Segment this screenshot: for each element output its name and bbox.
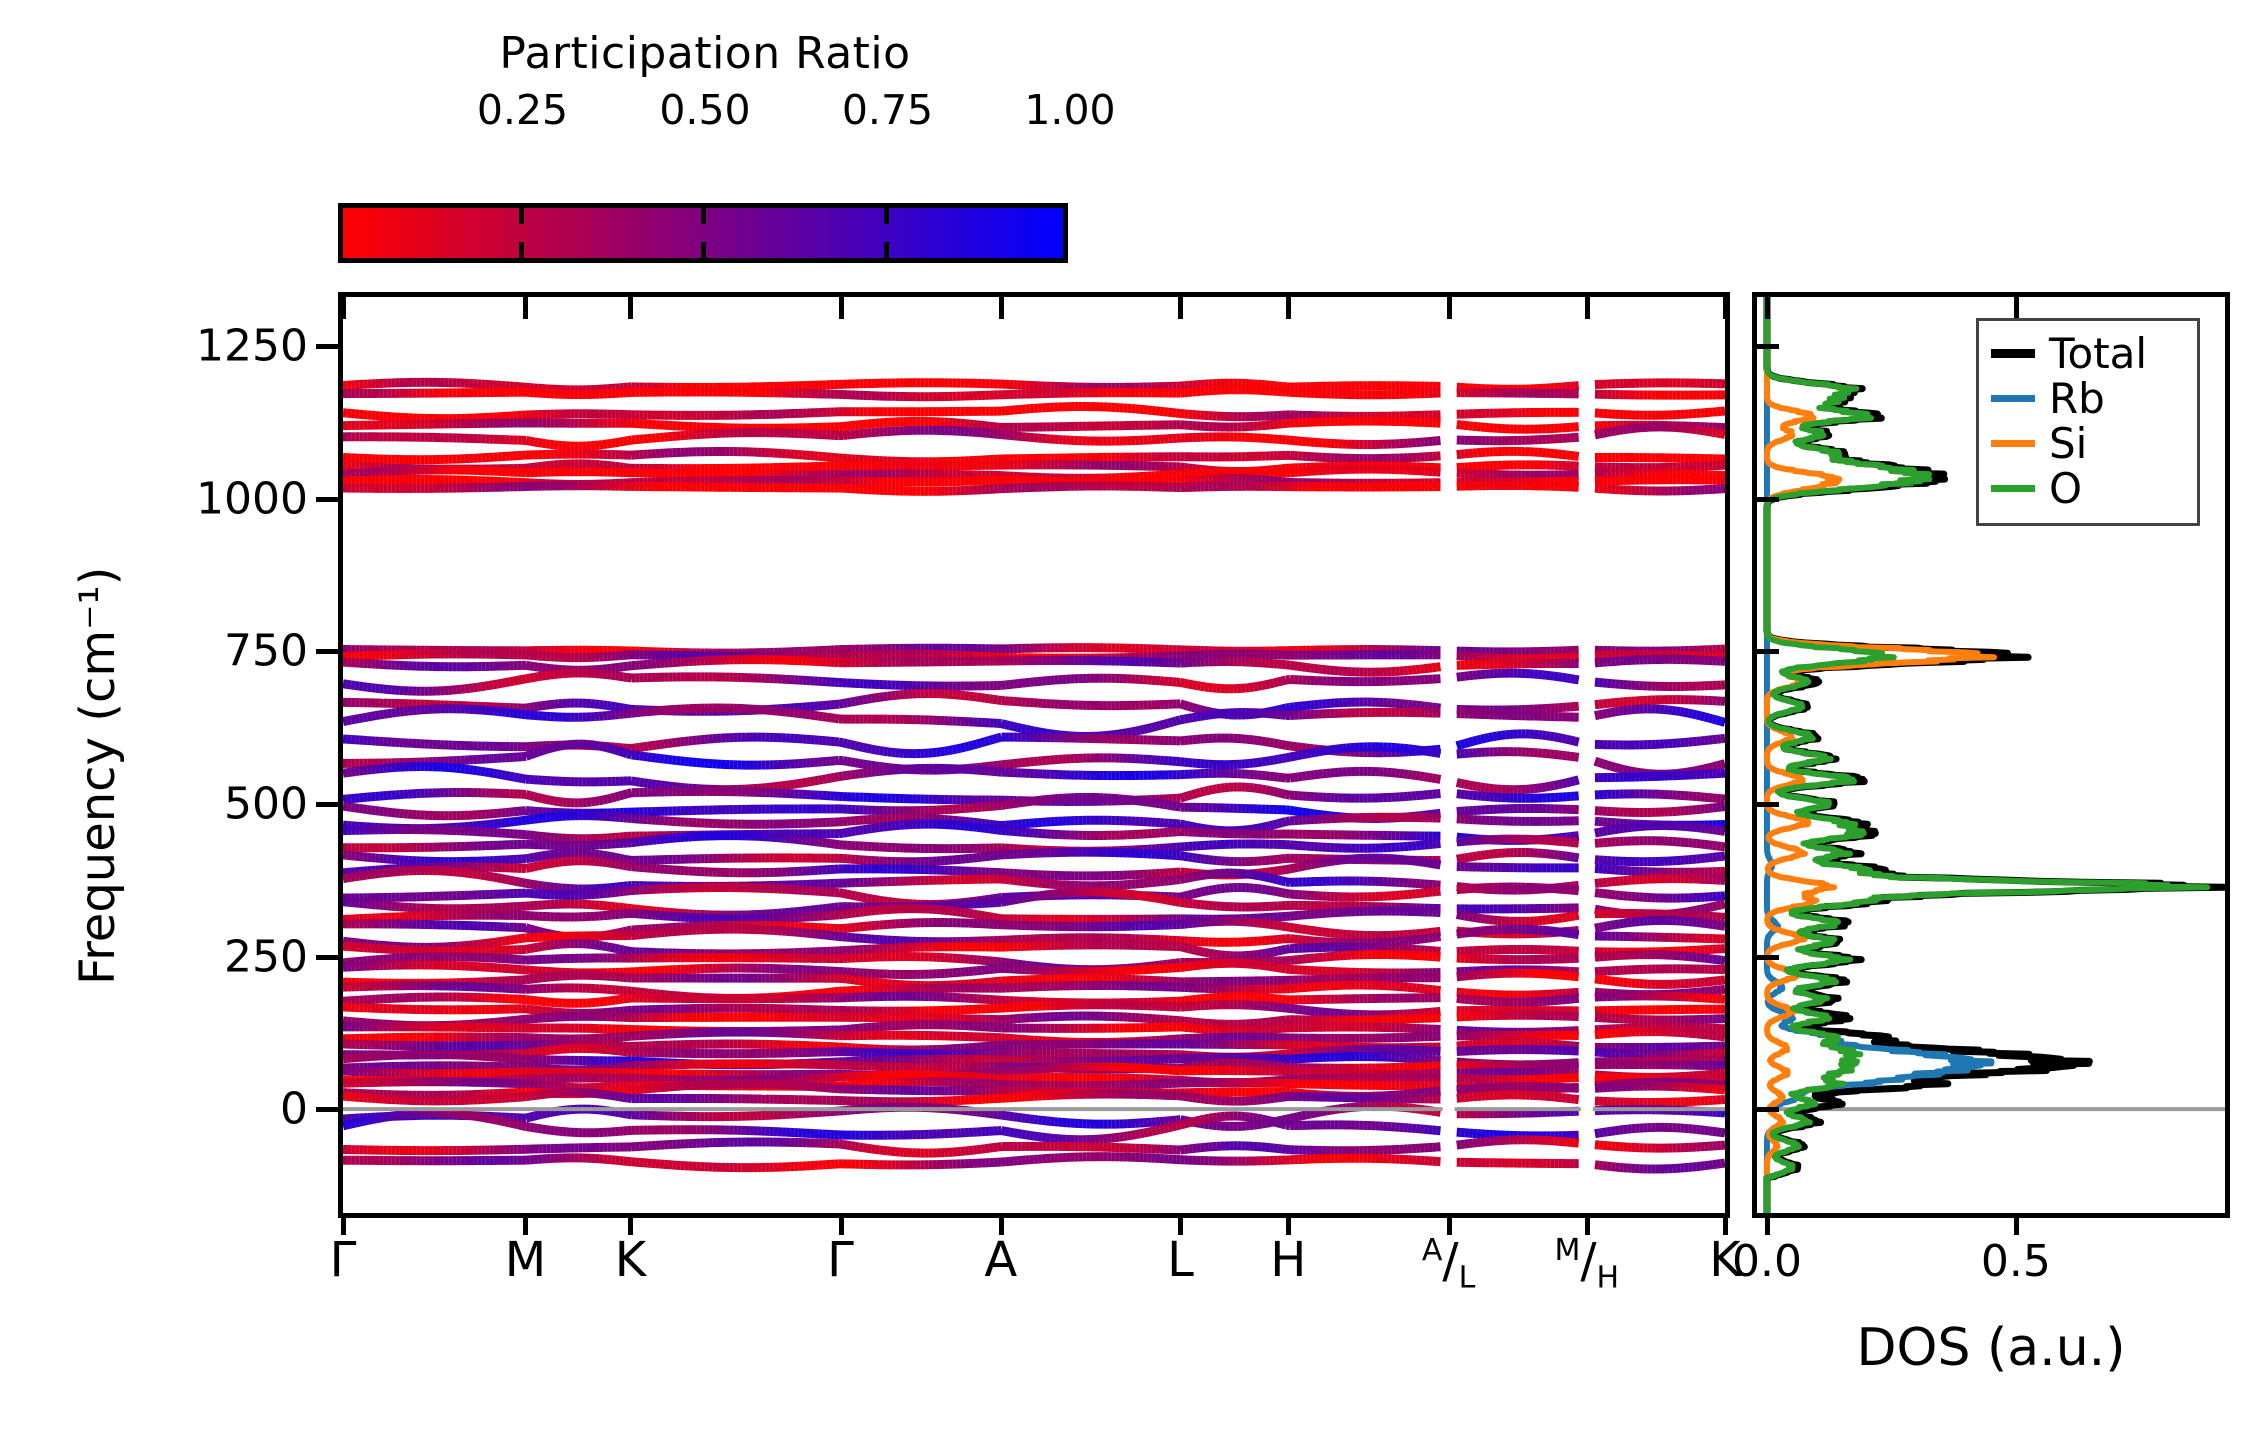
band-segment bbox=[1294, 666, 1298, 667]
band-segment bbox=[989, 699, 993, 700]
colorbar-tick-mark bbox=[701, 242, 706, 258]
band-segment bbox=[607, 443, 611, 444]
band-segment bbox=[1705, 431, 1709, 432]
band-segment bbox=[1298, 666, 1302, 667]
band-segment bbox=[1571, 679, 1575, 680]
band-segment bbox=[1562, 677, 1566, 678]
band-segment bbox=[506, 682, 510, 683]
band-segment bbox=[1599, 433, 1603, 434]
band-segment bbox=[619, 667, 623, 668]
band-segment bbox=[522, 679, 526, 680]
band-segment bbox=[1558, 677, 1562, 678]
band-segment bbox=[1619, 430, 1623, 431]
band-segment bbox=[1193, 707, 1197, 708]
band-segment bbox=[615, 442, 619, 443]
band-segment bbox=[1692, 429, 1696, 430]
band-segment bbox=[1302, 667, 1306, 668]
band-segment bbox=[1428, 668, 1432, 669]
band-segment bbox=[1290, 665, 1294, 666]
band-segment bbox=[615, 667, 619, 668]
band-structure-plot bbox=[343, 297, 1725, 1213]
band-segment bbox=[1627, 429, 1631, 430]
band-segment bbox=[347, 720, 351, 721]
band-segment bbox=[1611, 431, 1615, 432]
band-segment bbox=[530, 467, 534, 468]
band-segment bbox=[526, 665, 530, 666]
band-segment bbox=[1180, 682, 1184, 683]
band-segment bbox=[1721, 434, 1725, 435]
band-segment bbox=[985, 698, 989, 699]
band-segment bbox=[1701, 430, 1705, 431]
band-segment bbox=[851, 701, 855, 702]
band-segment bbox=[1180, 704, 1184, 705]
colorbar-tick-label: 0.50 bbox=[659, 86, 750, 134]
band-segment bbox=[534, 467, 538, 468]
band-segment bbox=[351, 685, 355, 686]
band-segment bbox=[343, 684, 347, 685]
band-segment bbox=[534, 667, 538, 668]
band-segment bbox=[1550, 676, 1554, 677]
colorbar-tick-mark bbox=[519, 242, 524, 258]
band-segment bbox=[526, 440, 530, 441]
band-segment bbox=[538, 443, 542, 444]
band-segment bbox=[1595, 434, 1599, 435]
band-segment bbox=[1180, 467, 1184, 468]
band-segment bbox=[538, 706, 542, 707]
band-segment bbox=[1713, 432, 1717, 433]
band-segment bbox=[607, 705, 611, 706]
band-segment bbox=[603, 444, 607, 445]
band-segment bbox=[502, 683, 506, 684]
colorbar-title: Participation Ratio bbox=[340, 28, 1070, 79]
band-segment bbox=[530, 677, 534, 678]
band-segment bbox=[993, 699, 997, 700]
band-segment bbox=[1575, 679, 1579, 680]
colorbar-tick-label: 1.00 bbox=[1024, 86, 1115, 134]
band-segment bbox=[526, 678, 530, 679]
band-segment bbox=[530, 666, 534, 667]
band-segment bbox=[1615, 430, 1619, 431]
band-segment bbox=[1709, 432, 1713, 433]
band-segment bbox=[1717, 433, 1721, 434]
band-segment bbox=[847, 702, 851, 703]
band-segment bbox=[863, 699, 867, 700]
band-segment bbox=[1571, 455, 1575, 456]
band-segment bbox=[355, 686, 359, 687]
band-segment bbox=[546, 675, 550, 676]
band-segment bbox=[481, 686, 485, 687]
band-segment bbox=[1258, 686, 1262, 687]
colorbar-tick-mark bbox=[701, 208, 706, 224]
colorbar-tick-mark bbox=[884, 208, 889, 224]
band-segment bbox=[469, 688, 473, 689]
band-segment bbox=[1432, 667, 1436, 668]
band-segment bbox=[538, 667, 542, 668]
band-segment bbox=[1457, 677, 1461, 678]
band-segment bbox=[1197, 709, 1201, 710]
band-segment bbox=[1310, 668, 1314, 669]
band-segment bbox=[363, 687, 367, 688]
band-segment bbox=[1266, 684, 1270, 685]
colorbar-tick-label: 0.25 bbox=[477, 86, 568, 134]
band-segment bbox=[1306, 667, 1310, 668]
band-segment bbox=[839, 704, 843, 705]
band-segment bbox=[530, 707, 534, 708]
band-segment bbox=[546, 444, 550, 445]
band-segment bbox=[1436, 667, 1440, 668]
band-segment bbox=[623, 708, 627, 709]
band-segment bbox=[526, 707, 530, 708]
band-segment bbox=[538, 676, 542, 677]
band-segment bbox=[623, 467, 627, 468]
band-segment bbox=[1575, 456, 1579, 457]
band-segment bbox=[1188, 468, 1192, 469]
band-segment bbox=[1249, 687, 1253, 688]
band-segment bbox=[534, 677, 538, 678]
band-segment bbox=[1274, 682, 1278, 683]
band-segment bbox=[1197, 686, 1201, 687]
band-segment bbox=[611, 706, 615, 707]
band-segment bbox=[473, 687, 477, 688]
band-segment bbox=[619, 467, 623, 468]
colorbar-tick-label: 0.75 bbox=[842, 86, 933, 134]
band-segment bbox=[1428, 707, 1432, 708]
band-segment bbox=[1201, 710, 1205, 711]
band-segment bbox=[1278, 709, 1282, 710]
band-segment bbox=[1282, 680, 1286, 681]
band-segment bbox=[497, 683, 501, 684]
colorbar-tick-labels: 0.250.500.751.00 bbox=[340, 86, 1070, 136]
band-segment bbox=[542, 668, 546, 669]
band-segment bbox=[510, 681, 514, 682]
band-segment bbox=[477, 687, 481, 688]
band-segment bbox=[542, 443, 546, 444]
band-segment bbox=[859, 700, 863, 701]
band-segment bbox=[623, 441, 627, 442]
band-segment bbox=[603, 705, 607, 706]
band-segment bbox=[619, 707, 623, 708]
band-segment bbox=[884, 696, 888, 697]
colorbar bbox=[338, 203, 1068, 263]
band-segment bbox=[623, 666, 627, 667]
band-segment bbox=[1432, 707, 1436, 708]
band-segment bbox=[518, 680, 522, 681]
band-segment bbox=[1184, 705, 1188, 706]
band-segment bbox=[611, 443, 615, 444]
band-segment bbox=[623, 677, 627, 678]
colorbar-tick-mark bbox=[884, 242, 889, 258]
band-segment bbox=[615, 676, 619, 677]
band-segment bbox=[615, 466, 619, 467]
band-curves bbox=[343, 382, 1725, 1169]
band-segment bbox=[973, 697, 977, 698]
band-segment bbox=[542, 705, 546, 706]
band-segment bbox=[619, 676, 623, 677]
band-segment bbox=[880, 697, 884, 698]
band-segment bbox=[843, 703, 847, 704]
band-segment bbox=[1697, 430, 1701, 431]
band-segment bbox=[489, 685, 493, 686]
band-segment bbox=[1282, 708, 1286, 709]
band-segment bbox=[1286, 707, 1290, 708]
band-segment bbox=[628, 440, 632, 441]
band-segment bbox=[514, 680, 518, 681]
band-segment bbox=[867, 698, 871, 699]
band-segment bbox=[343, 721, 347, 722]
band-segment bbox=[619, 441, 623, 442]
band-segment bbox=[871, 698, 875, 699]
band-segment bbox=[1201, 686, 1205, 687]
band-segment bbox=[615, 707, 619, 708]
colorbar-tick-mark bbox=[519, 208, 524, 224]
band-segment bbox=[1286, 680, 1290, 681]
band-segment bbox=[1193, 685, 1197, 686]
band-segment bbox=[1184, 683, 1188, 684]
band-structure-axes bbox=[338, 292, 1730, 1218]
band-segment bbox=[875, 697, 879, 698]
band-segment bbox=[977, 697, 981, 698]
band-segment bbox=[534, 706, 538, 707]
band-segment bbox=[347, 684, 351, 685]
band-segment bbox=[534, 442, 538, 443]
band-segment bbox=[1188, 706, 1192, 707]
band-segment bbox=[1262, 685, 1266, 686]
band-segment bbox=[542, 676, 546, 677]
band-segment bbox=[997, 700, 1001, 701]
band-segment bbox=[981, 698, 985, 699]
band-segment bbox=[1554, 676, 1558, 677]
band-segment bbox=[855, 701, 859, 702]
band-segment bbox=[607, 675, 611, 676]
band-segment bbox=[493, 684, 497, 685]
band-segment bbox=[367, 687, 371, 688]
band-segment bbox=[1188, 684, 1192, 685]
band-segment bbox=[1566, 678, 1570, 679]
phonon-figure: Participation Ratio 0.250.500.751.00 Fre… bbox=[0, 0, 2259, 1455]
band-segment bbox=[611, 675, 615, 676]
band-segment bbox=[1184, 467, 1188, 468]
band-segment bbox=[1603, 432, 1607, 433]
band-segment bbox=[1253, 686, 1257, 687]
band-segment bbox=[485, 685, 489, 686]
band-segment bbox=[1205, 687, 1209, 688]
band-segment bbox=[1607, 432, 1611, 433]
band-segment bbox=[1270, 683, 1274, 684]
band-segment bbox=[1278, 681, 1282, 682]
band-segment bbox=[1623, 429, 1627, 430]
band-segment bbox=[530, 441, 534, 442]
band-segment bbox=[359, 686, 363, 687]
band-segment bbox=[1436, 708, 1440, 709]
